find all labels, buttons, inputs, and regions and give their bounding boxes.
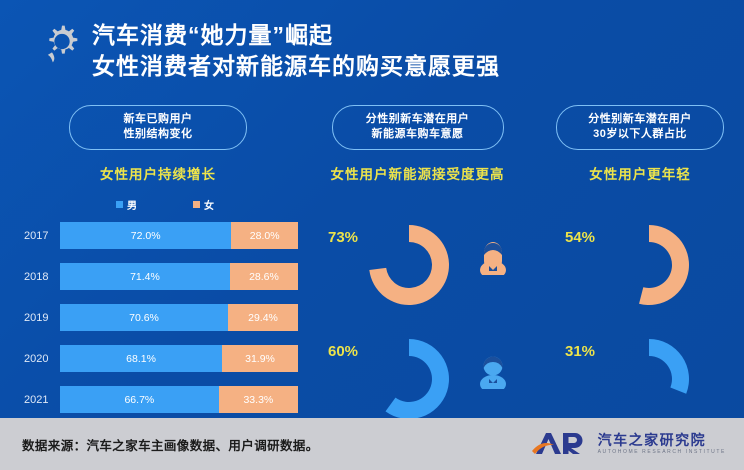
bar-row: 202068.1%31.9%	[18, 345, 298, 372]
donut-label-middle-male: 60%	[328, 343, 358, 360]
legend-label-male: 男	[127, 197, 137, 212]
logo-chinese-name: 汽车之家研究院	[598, 432, 726, 448]
footer: 数据来源：汽车之家车主画像数据、用户调研数据。 汽车之家研究院 AUTOHOME…	[0, 418, 744, 470]
bar-segment-female: 28.6%	[230, 263, 298, 290]
panel-left-heading-line2: 性别结构变化	[74, 127, 242, 142]
donut-block-right-female: 54%	[545, 217, 735, 325]
donut-right-female	[603, 219, 695, 311]
bar-track: 71.4%28.6%	[60, 263, 298, 290]
panel-right-heading-line1: 分性别新车潜在用户	[561, 112, 719, 127]
bar-track: 68.1%31.9%	[60, 345, 298, 372]
bar-track: 70.6%29.4%	[60, 304, 298, 331]
donut-label-right-female: 54%	[565, 229, 595, 246]
bar-year-label: 2017	[18, 230, 60, 242]
bar-segment-female: 29.4%	[228, 304, 298, 331]
bar-segment-male: 72.0%	[60, 222, 231, 249]
bar-row: 202166.7%33.3%	[18, 386, 298, 413]
legend-item-female: 女	[193, 197, 214, 212]
panel-right-subtitle: 女性用户更年轻	[545, 163, 735, 183]
bar-row: 201871.4%28.6%	[18, 263, 298, 290]
panel-left-heading: 新车已购用户 性别结构变化	[69, 105, 247, 150]
bar-year-label: 2019	[18, 312, 60, 324]
bar-segment-male: 66.7%	[60, 386, 219, 413]
panel-middle-heading: 分性别新车潜在用户 新能源车购车意愿	[332, 105, 504, 150]
bar-year-label: 2018	[18, 271, 60, 283]
donut-middle-male	[363, 333, 455, 425]
panel-left-heading-line1: 新车已购用户	[74, 112, 242, 127]
donut-label-right-male: 31%	[565, 343, 595, 360]
donut-middle-female	[363, 219, 455, 311]
data-source-note: 数据来源：汽车之家车主画像数据、用户调研数据。	[22, 435, 319, 454]
gear-icon	[42, 24, 82, 64]
bar-segment-male: 71.4%	[60, 263, 230, 290]
panel-left-subtitle: 女性用户持续增长	[18, 163, 298, 183]
bar-segment-female: 31.9%	[222, 345, 298, 372]
bar-row: 201772.0%28.0%	[18, 222, 298, 249]
logo-english-name: AUTOHOME RESEARCH INSTITUTE	[598, 448, 726, 456]
male-avatar-icon	[478, 353, 508, 394]
bar-row: 201970.6%29.4%	[18, 304, 298, 331]
header: 汽车消费“她力量”崛起 女性消费者对新能源车的购买意愿更强	[0, 0, 744, 100]
stacked-bar-chart: 201772.0%28.0%201871.4%28.6%201970.6%29.…	[18, 222, 298, 413]
panel-middle-subtitle: 女性用户新能源接受度更高	[310, 163, 525, 183]
ar-logo-mark-icon	[530, 429, 590, 459]
bar-track: 66.7%33.3%	[60, 386, 298, 413]
panel-nev-intent: 分性别新车潜在用户 新能源车购车意愿 女性用户新能源接受度更高 73% 60%	[310, 105, 525, 439]
bar-year-label: 2020	[18, 353, 60, 365]
female-avatar-icon	[478, 239, 508, 280]
donut-right-male	[603, 333, 695, 425]
bar-chart-legend: 男 女	[18, 197, 298, 212]
legend-swatch-female-icon	[193, 201, 200, 208]
legend-swatch-male-icon	[116, 201, 123, 208]
panel-middle-heading-line1: 分性别新车潜在用户	[337, 112, 499, 127]
bar-segment-male: 68.1%	[60, 345, 222, 372]
page-title: 汽车消费“她力量”崛起 女性消费者对新能源车的购买意愿更强	[92, 20, 712, 82]
panel-middle-heading-line2: 新能源车购车意愿	[337, 127, 499, 142]
infographic-canvas: 汽车消费“她力量”崛起 女性消费者对新能源车的购买意愿更强 新车已购用户 性别结…	[0, 0, 744, 470]
donut-block-middle-female: 73%	[310, 217, 525, 325]
bar-year-label: 2021	[18, 394, 60, 406]
bar-segment-female: 33.3%	[219, 386, 298, 413]
donut-label-middle-female: 73%	[328, 229, 358, 246]
title-line-2: 女性消费者对新能源车的购买意愿更强	[92, 50, 712, 82]
bar-track: 72.0%28.0%	[60, 222, 298, 249]
bar-segment-female: 28.0%	[231, 222, 298, 249]
autohome-research-logo: 汽车之家研究院 AUTOHOME RESEARCH INSTITUTE	[530, 429, 726, 459]
legend-label-female: 女	[204, 197, 214, 212]
panel-gender-structure: 新车已购用户 性别结构变化 女性用户持续增长 男 女 201772.0%28.0…	[18, 105, 298, 427]
panel-right-heading-line2: 30岁以下人群占比	[561, 127, 719, 142]
legend-item-male: 男	[116, 197, 137, 212]
panel-right-heading: 分性别新车潜在用户 30岁以下人群占比	[556, 105, 724, 150]
panel-under30-share: 分性别新车潜在用户 30岁以下人群占比 女性用户更年轻 54% 31%	[545, 105, 735, 439]
bar-segment-male: 70.6%	[60, 304, 228, 331]
title-line-1: 汽车消费“她力量”崛起	[92, 20, 712, 50]
